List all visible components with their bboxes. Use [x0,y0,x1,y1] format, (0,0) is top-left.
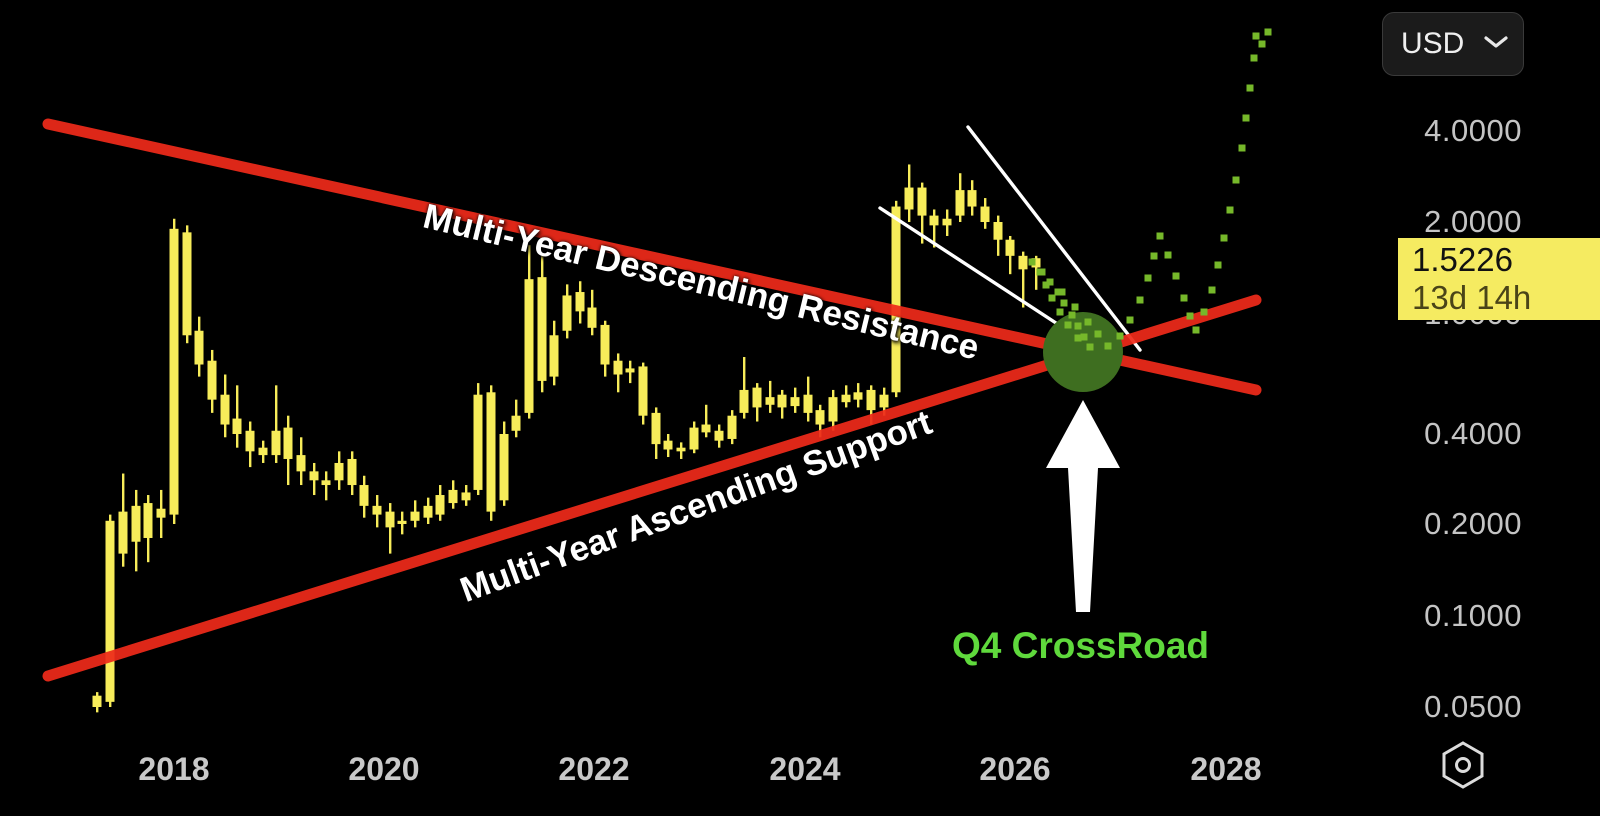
y-axis-tick: 0.1000 [1424,598,1522,634]
current-price-value: 1.5226 [1412,241,1600,279]
chart-svg [0,0,1370,816]
currency-value: USD [1401,27,1464,61]
y-axis-tick: 4.0000 [1424,113,1522,149]
x-axis-tick: 2020 [348,751,419,788]
x-axis-tick: 2028 [1190,751,1261,788]
y-axis-tick: 0.0500 [1424,689,1522,725]
price-chart-canvas[interactable]: Multi-Year Descending Resistance Multi-Y… [0,0,1370,816]
current-price-tag[interactable]: 1.5226 13d 14h [1398,238,1600,320]
y-axis-tick: 0.4000 [1424,416,1522,452]
chevron-down-icon [1483,34,1509,55]
x-axis-tick: 2024 [769,751,840,788]
crossroad-highlight-circle [1043,312,1123,392]
y-axis-tick: 2.0000 [1424,204,1522,240]
hexagon-logo-icon[interactable] [1436,738,1490,797]
y-axis-tick: 0.2000 [1424,506,1522,542]
x-axis-tick: 2026 [979,751,1050,788]
x-axis-tick: 2022 [558,751,629,788]
countdown-value: 13d 14h [1412,279,1600,317]
price-axis[interactable]: USD 4.00002.00001.00000.40000.20000.1000… [1370,0,1600,816]
chart-screenshot: Multi-Year Descending Resistance Multi-Y… [0,0,1600,816]
up-arrow-icon [1046,400,1120,612]
currency-selector[interactable]: USD [1382,12,1524,76]
x-axis-tick: 2018 [138,751,209,788]
crossroad-annotation: Q4 CrossRoad [952,625,1209,667]
